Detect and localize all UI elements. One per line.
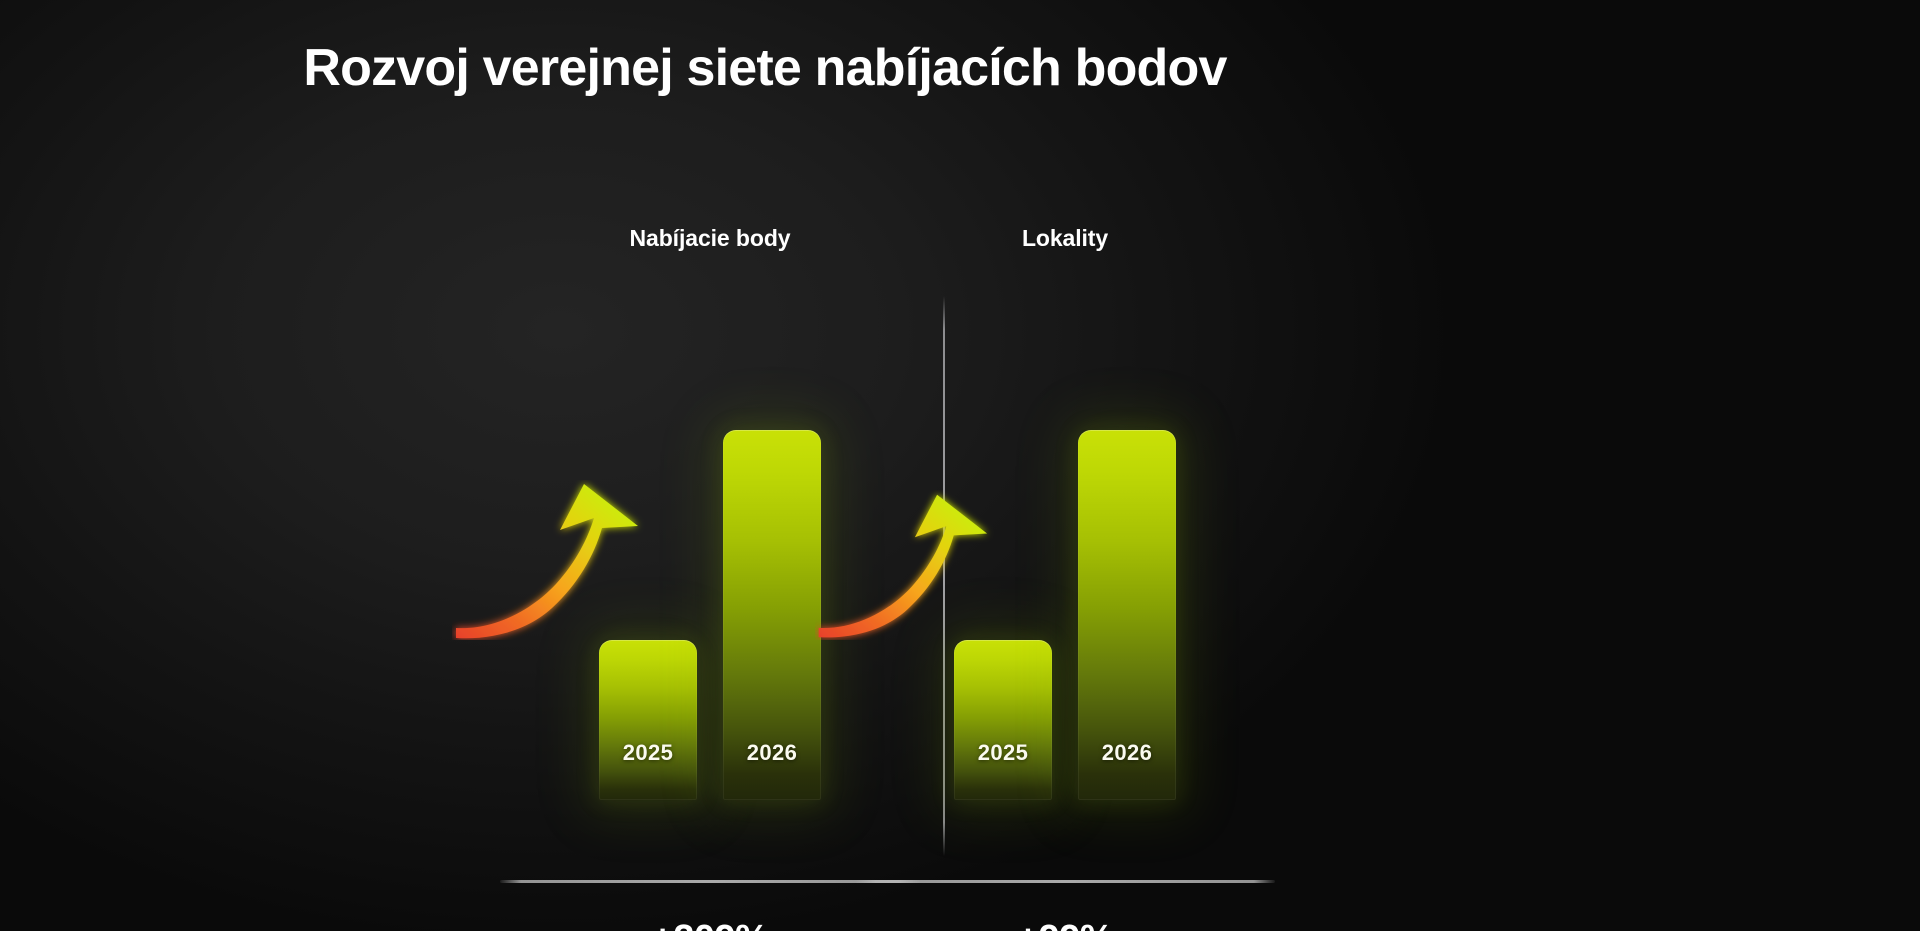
bar-label-2025: 2025	[954, 740, 1052, 766]
slide-canvas: Rozvoj verejnej siete nabíjacích bodov N…	[0, 0, 1920, 931]
bar-label-2026: 2026	[1078, 740, 1176, 766]
bar-series: 2025 2026	[855, 290, 1275, 800]
chart-group-label: Lokality	[855, 225, 1275, 252]
bar-2026[interactable]: 2026	[1078, 430, 1176, 800]
bar-2025[interactable]: 2025	[599, 640, 697, 800]
chart-plot-area: 2025 2026	[855, 290, 1275, 800]
chart-baseline	[855, 880, 1275, 883]
bar-2026[interactable]: 2026	[723, 430, 821, 800]
bar-2025[interactable]: 2025	[954, 640, 1052, 800]
bar-label-2026: 2026	[723, 740, 821, 766]
bar-wrap-2026: 2026	[1078, 430, 1176, 800]
growth-percentage: +99%	[855, 918, 1275, 931]
bar-wrap-2026: 2026	[723, 430, 821, 800]
bar-label-2025: 2025	[599, 740, 697, 766]
chart-group-lokality: Lokality 2025 2026	[855, 225, 1275, 905]
page-title: Rozvoj verejnej siete nabíjacích bodov	[0, 38, 1530, 98]
bar-wrap-2025: 2025	[954, 640, 1052, 800]
bar-wrap-2025: 2025	[599, 640, 697, 800]
